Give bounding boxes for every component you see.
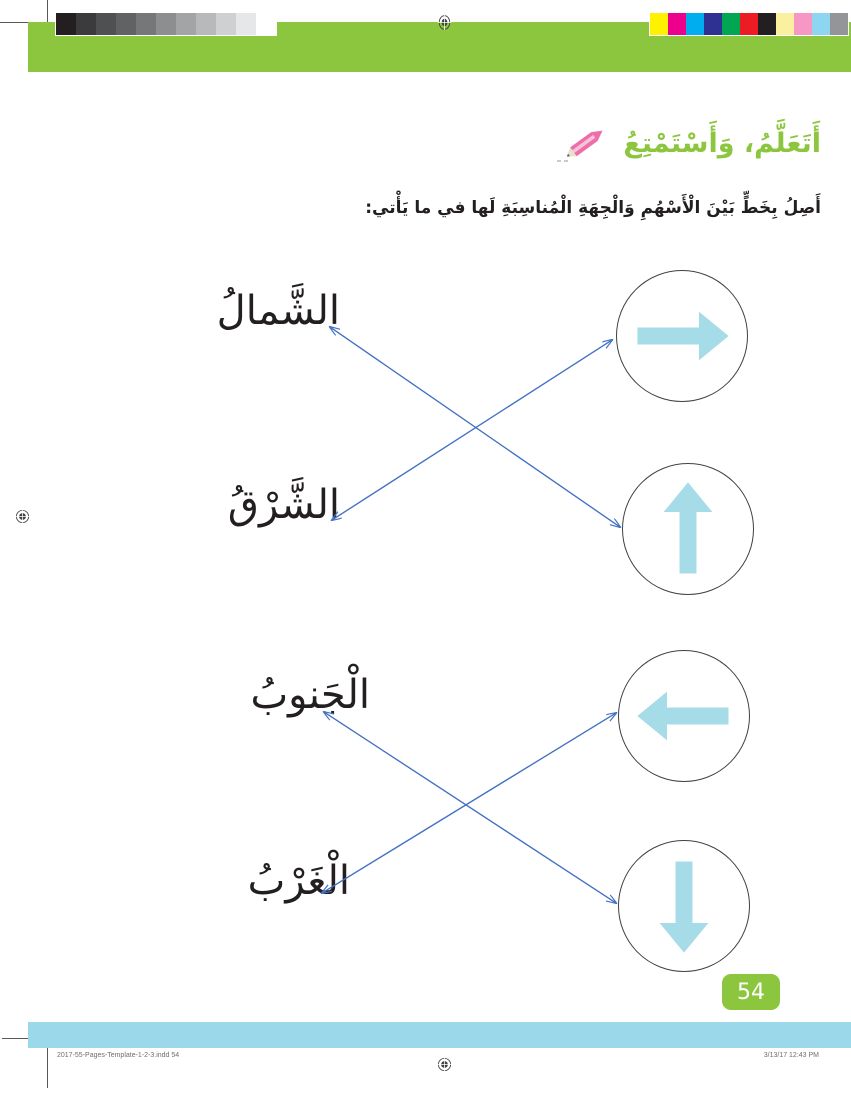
ink-swatch (704, 13, 722, 35)
ink-swatch (650, 13, 668, 35)
instruction-text: أَصِلُ بِخَطٍّ بَيْنَ الْأَسْهُمِ وَالْج… (365, 198, 821, 218)
registration-target-icon-bottom (436, 1056, 453, 1073)
word-west[interactable]: الْغَرْبُ (248, 858, 350, 904)
grayscale-swatch (176, 13, 196, 35)
arrow-circle-right[interactable] (616, 270, 748, 402)
grayscale-swatch (256, 13, 276, 35)
pencil-icon (555, 124, 615, 164)
section-heading: أَتَعَلَّمُ، وَأَسْتَمْتِعُ (555, 124, 821, 164)
grayscale-calibration-strip (55, 12, 277, 36)
ink-swatch (668, 13, 686, 35)
ink-swatch (722, 13, 740, 35)
grayscale-swatch (116, 13, 136, 35)
grayscale-swatch (136, 13, 156, 35)
textbook-page: أَتَعَلَّمُ، وَأَسْتَمْتِعُ أَصِلُ بِخَط… (0, 0, 851, 1096)
grayscale-swatch (56, 13, 76, 35)
arrow-circle-up[interactable] (622, 463, 754, 595)
arrow-left-icon (631, 663, 737, 769)
bottom-blue-band (28, 1022, 851, 1048)
ink-swatch (776, 13, 794, 35)
grayscale-swatch (156, 13, 176, 35)
arrow-up-icon (635, 476, 741, 582)
arrow-circle-down[interactable] (618, 840, 750, 972)
grayscale-swatch (196, 13, 216, 35)
grayscale-swatch (96, 13, 116, 35)
page-number-badge: 54 (722, 974, 780, 1010)
word-north[interactable]: الشَّمالُ (217, 288, 340, 334)
footer-file-slug: 2017-55-Pages-Template-1-2-3.indd 54 (57, 1052, 179, 1059)
ink-swatch (758, 13, 776, 35)
ink-swatch (812, 13, 830, 35)
ink-swatch (740, 13, 758, 35)
word-south[interactable]: الْجَنوبُ (250, 672, 370, 718)
ink-swatch (830, 13, 848, 35)
matching-exercise: الشَّمالُ الشَّرْقُ الْجَنوبُ الْغَرْبُ (0, 0, 851, 1096)
grayscale-swatch (76, 13, 96, 35)
registration-target-icon-top (436, 14, 453, 31)
word-east[interactable]: الشَّرْقُ (228, 482, 340, 528)
arrow-circle-left[interactable] (618, 650, 750, 782)
grayscale-swatch (216, 13, 236, 35)
arrow-right-icon (629, 283, 735, 389)
footer-timestamp-slug: 3/13/17 12:43 PM (764, 1052, 819, 1059)
ink-swatch (794, 13, 812, 35)
ink-swatch (686, 13, 704, 35)
section-heading-label: أَتَعَلَّمُ، وَأَسْتَمْتِعُ (623, 126, 821, 162)
ink-calibration-strip (649, 12, 849, 36)
registration-target-icon-left (14, 508, 31, 525)
grayscale-swatch (236, 13, 256, 35)
arrow-down-icon (631, 853, 737, 959)
